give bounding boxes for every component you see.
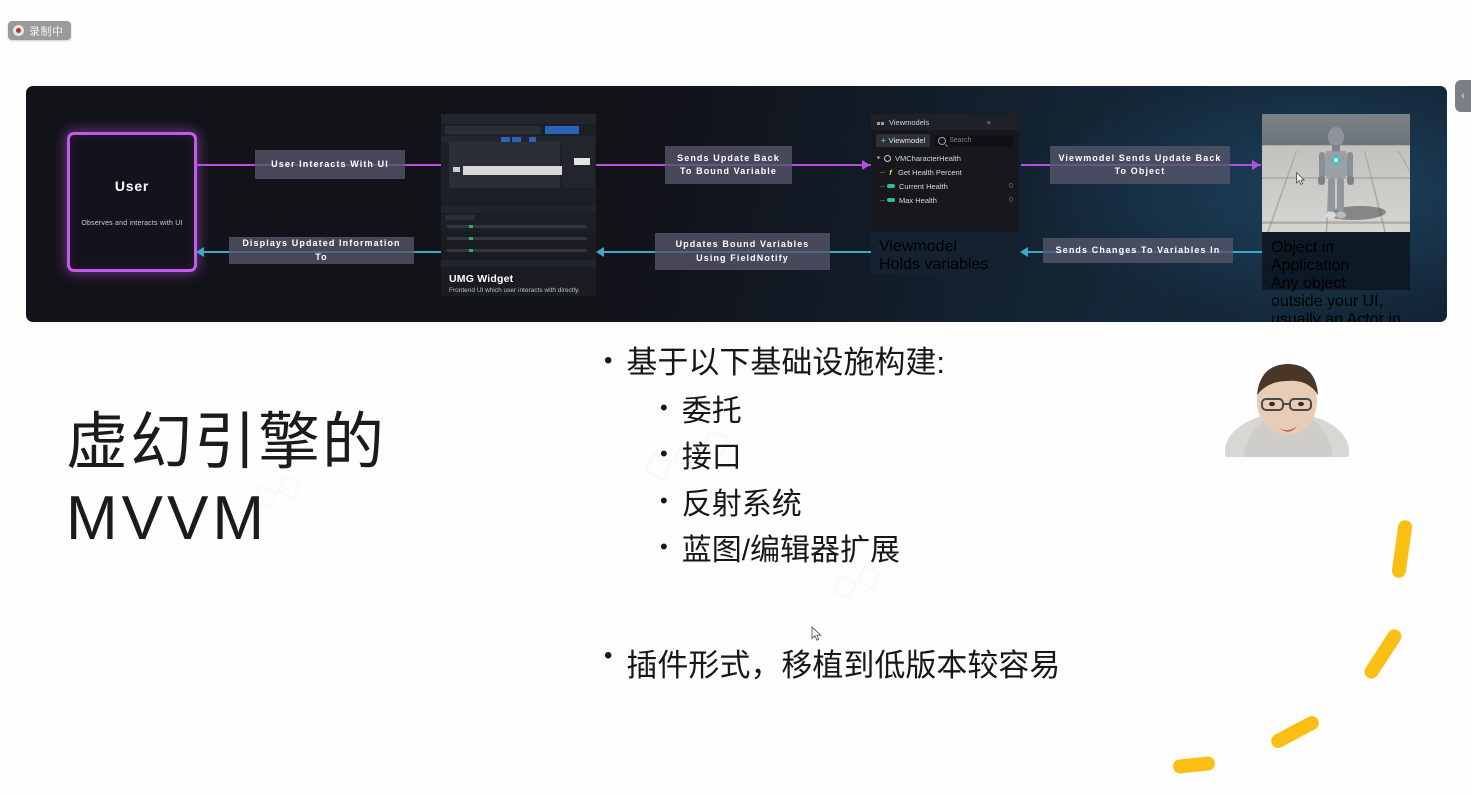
sub-bullet-item: • 蓝图/编辑器扩展 xyxy=(660,528,1224,575)
chevron-down-icon[interactable] xyxy=(877,157,881,160)
diagram-node-viewmodel: Viewmodels × + Viewmodel Search VMCharac… xyxy=(871,114,1019,274)
presenter-portrait xyxy=(1212,355,1362,457)
viewmodels-tab-icon xyxy=(877,119,884,126)
recording-label: 录制中 xyxy=(29,23,64,39)
arrowhead-left xyxy=(196,247,204,257)
property-pin-icon xyxy=(887,198,895,202)
add-viewmodel-button[interactable]: + Viewmodel xyxy=(876,134,930,147)
umg-widget-subtitle: Frontend UI which user interacts with di… xyxy=(449,287,588,296)
edge-label-viewmodel-sends-update-back-to-object: Viewmodel Sends Update Back To Object xyxy=(1050,146,1230,184)
sub-bullet-text: 反射系统 xyxy=(682,482,802,529)
sub-bullet-text: 接口 xyxy=(682,435,742,482)
viewmodel-tree-item-current-health[interactable]: Current Health 0 xyxy=(871,179,1019,193)
viewmodel-tree-item-class[interactable]: VMCharacterHealth xyxy=(871,151,1019,165)
decorative-dash xyxy=(1269,714,1321,751)
viewmodel-title: Viewmodel xyxy=(879,238,1011,256)
recording-badge[interactable]: 录制中 xyxy=(8,21,71,40)
viewport-cursor-icon xyxy=(1296,172,1305,185)
umg-editor-screenshot xyxy=(441,114,596,232)
viewmodel-caption: Viewmodel Holds variables used in your U… xyxy=(871,232,1019,274)
sub-bullet-item: • 委托 xyxy=(660,389,1224,436)
viewmodel-search-input[interactable]: Search xyxy=(934,135,1014,147)
viewmodel-toolbar: + Viewmodel Search xyxy=(871,130,1019,151)
record-dot-icon xyxy=(13,25,24,36)
viewmodel-class-label: VMCharacterHealth xyxy=(895,154,961,163)
page-title-line1: 虚幻引擎的 xyxy=(66,408,386,477)
object-title: Object in Application xyxy=(1271,239,1401,275)
function-f-icon: f xyxy=(887,168,894,177)
viewmodel-property-label: Max Health xyxy=(899,196,937,205)
bullet-glyph: • xyxy=(604,344,612,383)
bullet-glyph: • xyxy=(660,528,668,575)
bullet-glyph: • xyxy=(660,389,668,436)
edge-label-sends-changes-to-variables-in: Sends Changes To Variables In xyxy=(1043,238,1233,263)
add-viewmodel-label: Viewmodel xyxy=(889,136,926,145)
diagram-node-object-in-application: Object in Application Any object outside… xyxy=(1262,114,1410,290)
edge-label-displays-updated-information-to: Displays Updated Information To xyxy=(229,237,414,264)
user-node-subtitle: Observes and interacts with UI xyxy=(81,220,182,227)
diagram-node-user: User Observes and interacts with UI xyxy=(67,132,197,272)
mouse-cursor-icon xyxy=(811,626,822,641)
viewmodel-tree-item-max-health[interactable]: Max Health 0 xyxy=(871,193,1019,207)
viewmodel-subtitle: Holds variables used in your UI xyxy=(879,256,1011,274)
object-subtitle: Any object outside your UI, usually an A… xyxy=(1271,275,1401,322)
close-icon[interactable]: × xyxy=(987,118,1013,127)
page-title: 虚幻引擎的 MVVM xyxy=(66,405,536,556)
arrowhead-right xyxy=(1252,160,1260,170)
decorative-dash xyxy=(1172,756,1215,774)
presenter-webcam-overlay xyxy=(1199,335,1374,457)
viewmodel-property-value: 0 xyxy=(1009,197,1013,204)
object-caption: Object in Application Any object outside… xyxy=(1262,232,1410,290)
mvvm-flow-diagram: User Observes and interacts with UI User… xyxy=(26,86,1447,322)
edge-label-sends-update-back-to-bound-variable: Sends Update Back To Bound Variable xyxy=(665,146,792,184)
sub-bullet-text: 蓝图/编辑器扩展 xyxy=(682,528,900,575)
viewmodels-tab-bar: Viewmodels × xyxy=(871,114,1019,130)
bullet-secondary-text: 插件形式，移植到低版本较容易 xyxy=(626,640,1060,685)
decorative-dash xyxy=(1391,519,1413,578)
sub-bullet-list: • 委托 • 接口 • 反射系统 • 蓝图/编辑器扩展 xyxy=(660,389,1224,575)
search-icon xyxy=(938,137,946,145)
viewmodel-tree-item-function[interactable]: f Get Health Percent xyxy=(871,165,1019,179)
viewmodel-property-value: 0 xyxy=(1009,183,1013,190)
sub-bullet-item: • 接口 xyxy=(660,435,1224,482)
viewmodel-property-label: Current Health xyxy=(899,182,948,191)
arrowhead-right xyxy=(862,160,870,170)
property-pin-icon xyxy=(887,184,895,188)
bullet-glyph: • xyxy=(604,640,612,685)
bullet-secondary: • 插件形式，移植到低版本较容易 xyxy=(604,640,1060,685)
umg-widget-caption: UMG Widget Frontend UI which user intera… xyxy=(441,267,596,296)
search-placeholder: Search xyxy=(949,137,971,144)
page-title-line2: MVVM xyxy=(66,481,536,557)
edge-label-updates-bound-variables-using-fieldnotify: Updates Bound Variables Using FieldNotif… xyxy=(655,233,830,270)
bullet-main-text: 基于以下基础设施构建: xyxy=(626,344,945,383)
arrowhead-left xyxy=(596,247,604,257)
umg-widget-title: UMG Widget xyxy=(449,273,588,285)
collapse-panel-chevron-icon[interactable]: ‹ xyxy=(1455,80,1471,112)
diagram-node-umg-widget: UMG Widget Frontend UI which user intera… xyxy=(441,114,596,296)
arrowhead-left xyxy=(1020,247,1028,257)
edge-label-user-interacts-with-ui: User Interacts With UI xyxy=(255,150,405,179)
user-node-title: User xyxy=(115,178,149,194)
sub-bullet-text: 委托 xyxy=(682,389,742,436)
viewmodel-function-label: Get Health Percent xyxy=(898,168,962,177)
sub-bullet-item: • 反射系统 xyxy=(660,482,1224,529)
bullet-list: • 基于以下基础设施构建: • 委托 • 接口 • 反射系统 • 蓝图/编辑器扩… xyxy=(604,344,1224,575)
class-circle-icon xyxy=(884,155,891,162)
bullet-glyph: • xyxy=(660,435,668,482)
object-viewport-render xyxy=(1262,114,1410,232)
plus-icon: + xyxy=(881,137,886,145)
bullet-glyph: • xyxy=(660,482,668,529)
mannequin-icon xyxy=(1308,126,1364,226)
bullet-main: • 基于以下基础设施构建: xyxy=(604,344,1224,383)
viewmodels-tab-label: Viewmodels xyxy=(889,118,929,127)
decorative-dash xyxy=(1362,627,1404,682)
